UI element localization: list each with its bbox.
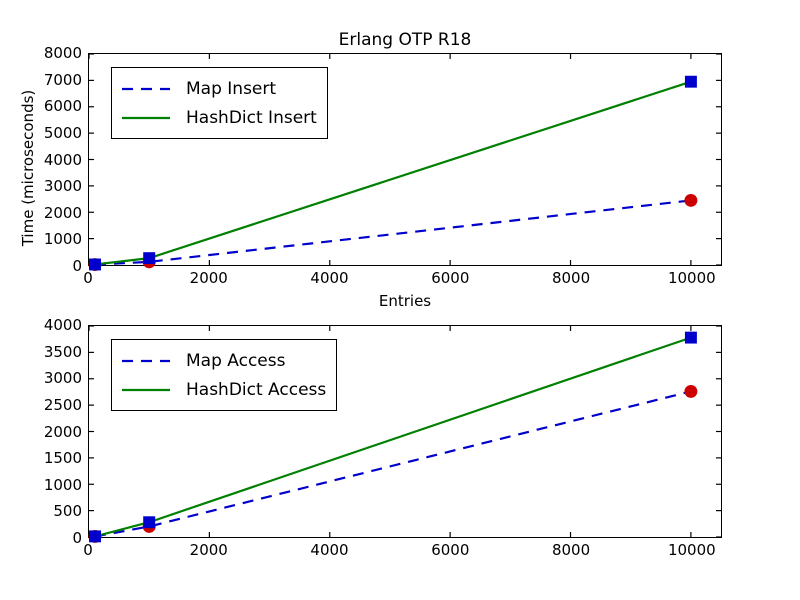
legend-access: Map Access HashDict Access — [111, 339, 337, 411]
x-axis-label-insert: Entries — [88, 292, 722, 310]
data-point-marker — [684, 385, 697, 398]
x-tick-label: 0 — [83, 271, 93, 286]
x-tick-label: 10000 — [668, 543, 716, 558]
series-line — [95, 391, 691, 536]
x-tick-label: 8000 — [552, 271, 590, 286]
legend-item-hashdict-access: HashDict Access — [120, 375, 326, 404]
x-tick-label: 6000 — [431, 543, 469, 558]
y-tick-label: 4000 — [6, 153, 82, 168]
dashed-line-icon — [120, 82, 172, 96]
series-line — [95, 200, 691, 264]
x-tick-label: 4000 — [310, 543, 348, 558]
y-tick-label: 500 — [6, 504, 82, 519]
y-tick-label: 1000 — [6, 478, 82, 493]
y-tick-label: 8000 — [6, 46, 82, 61]
y-tick-label: 2000 — [6, 425, 82, 440]
x-tick-label: 0 — [83, 543, 93, 558]
plot-area-insert: Map Insert HashDict Insert — [88, 53, 722, 266]
y-tick-label: 3000 — [6, 179, 82, 194]
dashed-line-icon — [120, 354, 172, 368]
y-tick-label: 2500 — [6, 398, 82, 413]
y-tick-label: 0 — [6, 259, 82, 274]
x-tick-label: 2000 — [190, 543, 228, 558]
legend-item-map-insert: Map Insert — [120, 74, 317, 103]
y-tick-label: 0 — [6, 531, 82, 546]
x-tick-label: 8000 — [552, 543, 590, 558]
x-tick-label: 4000 — [310, 271, 348, 286]
y-tick-label: 4000 — [6, 318, 82, 333]
legend-label-hashdict-access: HashDict Access — [186, 380, 326, 400]
solid-line-icon — [120, 111, 172, 125]
y-tick-label: 3500 — [6, 345, 82, 360]
y-tick-label: 1500 — [6, 451, 82, 466]
legend-label-hashdict-insert: HashDict Insert — [186, 108, 317, 128]
x-axis-ticks-access: 0200040006000800010000 — [88, 539, 722, 563]
legend-item-hashdict-insert: HashDict Insert — [120, 103, 317, 132]
y-tick-label: 1000 — [6, 232, 82, 247]
x-tick-label: 2000 — [190, 271, 228, 286]
y-tick-label: 2000 — [6, 206, 82, 221]
legend-label-map-access: Map Access — [186, 351, 285, 371]
legend-insert: Map Insert HashDict Insert — [111, 67, 328, 139]
y-tick-label: 6000 — [6, 99, 82, 114]
data-point-marker — [143, 516, 155, 528]
y-axis-ticks-access: 05001000150020002500300035004000 — [0, 325, 82, 538]
data-point-marker — [685, 332, 697, 344]
x-tick-label: 10000 — [668, 271, 716, 286]
y-tick-label: 5000 — [6, 126, 82, 141]
legend-item-map-access: Map Access — [120, 346, 326, 375]
y-tick-label: 7000 — [6, 73, 82, 88]
legend-label-map-insert: Map Insert — [186, 79, 276, 99]
solid-line-icon — [120, 383, 172, 397]
plot-area-access: Map Access HashDict Access — [88, 325, 722, 538]
data-point-marker — [143, 252, 155, 264]
y-tick-label: 3000 — [6, 371, 82, 386]
x-tick-label: 6000 — [431, 271, 469, 286]
data-point-marker — [684, 194, 697, 207]
y-axis-ticks-insert: 010002000300040005000600070008000 — [0, 53, 82, 266]
data-point-marker — [685, 76, 697, 88]
page-title: Erlang OTP R18 — [88, 30, 722, 50]
matplotlib-figure: Erlang OTP R18 Time (microseconds) 01000… — [0, 0, 800, 600]
x-axis-ticks-insert: 0200040006000800010000 — [88, 267, 722, 291]
